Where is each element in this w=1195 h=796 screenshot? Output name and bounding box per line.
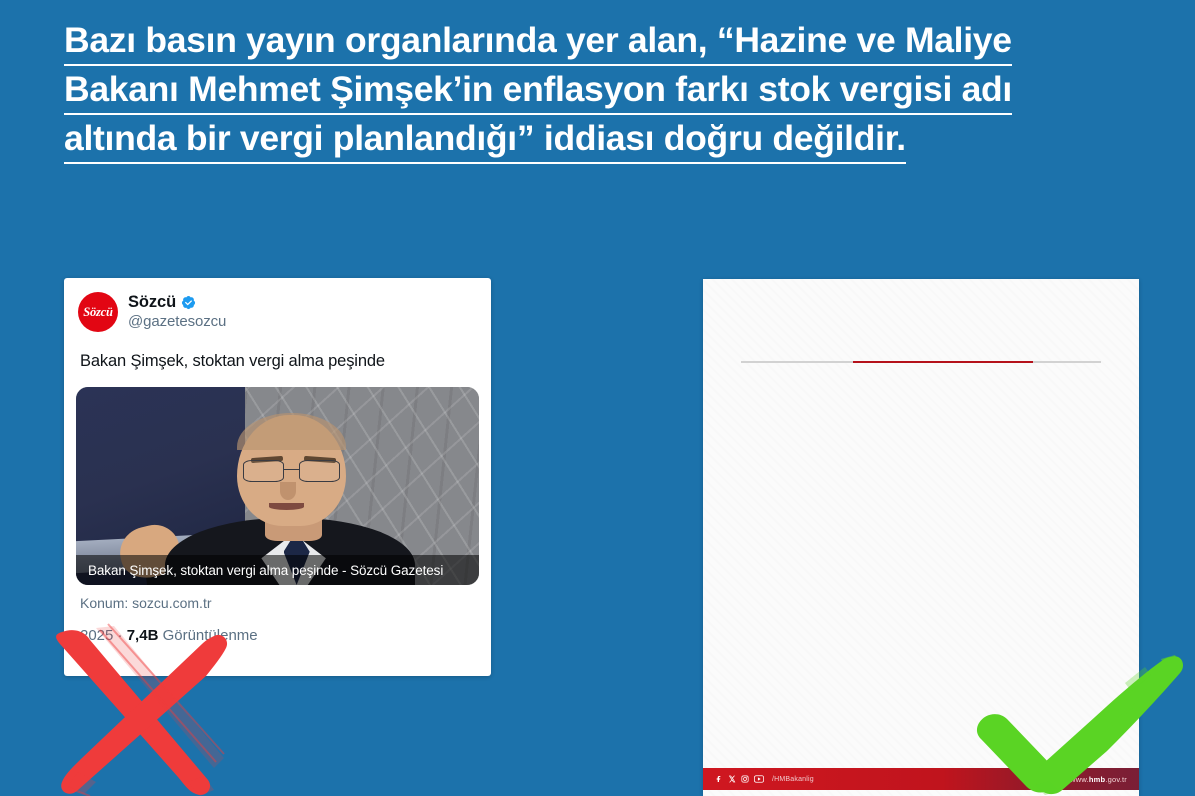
document-paper: [703, 279, 1139, 796]
headline-line-2: Bakanı Mehmet Şimşek’in enflasyon farkı …: [64, 67, 1012, 115]
tweet-identity: Sözcü @gazetesozcu: [128, 292, 226, 330]
document-footer-band: /HMBakanlig www.hmb.gov.tr: [703, 768, 1139, 790]
url-brand: hmb: [1089, 775, 1105, 784]
verified-badge-icon: [181, 295, 196, 310]
url-prefix: www.: [1070, 775, 1089, 784]
ministry-press-release-card: Türkiye Cumhuriyeti Hazine ve Maliye Bak…: [703, 279, 1139, 796]
page-title: Bazı basın yayın organlarında yer alan, …: [64, 18, 1124, 164]
tweet-header: Sözcü Sözcü @gazetesozcu: [64, 278, 491, 332]
photo-person-nose: [280, 482, 296, 500]
tweet-screenshot-card: Sözcü Sözcü @gazetesozcu Bakan Şimşek, s…: [64, 278, 491, 676]
glasses-bridge: [284, 469, 299, 471]
document-social-handle: /HMBakanlig: [772, 776, 814, 783]
headline-line-3: altında bir vergi planlandığı” iddiası d…: [64, 116, 906, 164]
fact-check-graphic: Bazı basın yayın organlarında yer alan, …: [0, 0, 1195, 796]
photo-person-mouth: [269, 503, 303, 509]
document-website-url: www.hmb.gov.tr: [1070, 775, 1127, 784]
youtube-icon: [754, 775, 764, 783]
photo-person-glasses: [243, 460, 340, 482]
headline-line-1: Bazı basın yayın organlarında yer alan, …: [64, 18, 1012, 66]
facebook-icon: [715, 775, 723, 783]
document-social-links: /HMBakanlig: [715, 775, 814, 783]
x-twitter-icon: [728, 775, 736, 783]
tweet-view-label: Görüntülenme: [163, 627, 258, 644]
instagram-icon: [741, 775, 749, 783]
tweet-view-count: 7,4B: [127, 627, 159, 644]
avatar-label: Sözcü: [83, 305, 113, 320]
tweet-location-label: Konum: sozcu.com.tr: [64, 585, 491, 611]
tweet-display-name: Sözcü: [128, 293, 176, 312]
tweet-handle: @gazetesozcu: [128, 313, 226, 330]
glasses-lens-left: [243, 460, 284, 482]
tweet-date: 2025: [80, 627, 113, 644]
letterhead-divider: [741, 361, 1101, 363]
tweet-metadata: 2025 · 7,4B Görüntülenme: [64, 611, 491, 644]
glasses-lens-right: [299, 460, 340, 482]
tweet-photo: Bakan Şimşek, stoktan vergi alma peşinde…: [76, 387, 479, 585]
tweet-text: Bakan Şimşek, stoktan vergi alma peşinde: [64, 332, 491, 371]
photo-caption: Bakan Şimşek, stoktan vergi alma peşinde…: [76, 555, 479, 585]
url-suffix: .gov.tr: [1105, 775, 1127, 784]
tweet-meta-separator: ·: [118, 627, 123, 644]
avatar: Sözcü: [78, 292, 118, 332]
